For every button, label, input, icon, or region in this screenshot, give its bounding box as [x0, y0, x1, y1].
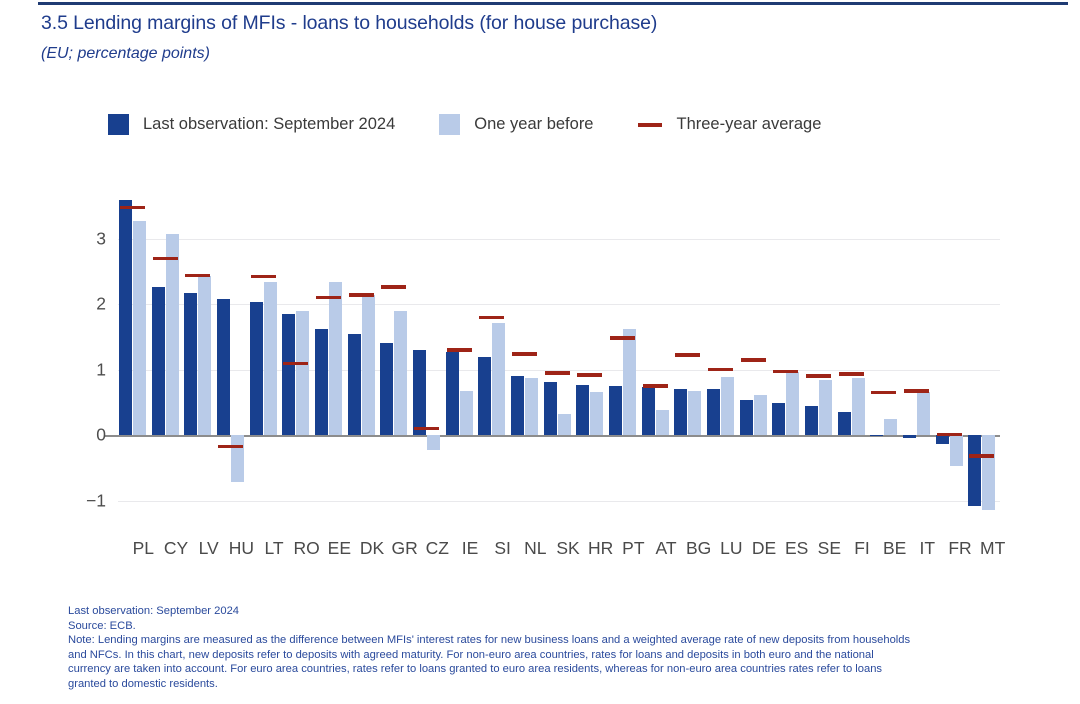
bar-one-year-before — [950, 435, 963, 466]
y-axis-tick-label: 3 — [70, 229, 106, 250]
legend-swatch-icon — [439, 114, 460, 135]
bar-one-year-before — [394, 311, 407, 435]
bar-last-observation — [903, 435, 916, 438]
three-year-average-marker — [806, 374, 831, 378]
bar-group — [575, 190, 608, 530]
bar-last-observation — [707, 389, 720, 435]
x-axis-label: DK — [355, 538, 389, 559]
bar-last-observation — [740, 400, 753, 435]
y-axis-tick-label: 2 — [70, 294, 106, 315]
bar-one-year-before — [198, 276, 211, 436]
three-year-average-marker — [741, 358, 766, 362]
three-year-average-marker — [185, 274, 210, 278]
three-year-average-marker — [349, 293, 374, 297]
bar-one-year-before — [623, 329, 636, 435]
bar-group — [412, 190, 445, 530]
legend-item: Three-year average — [638, 115, 822, 134]
header-rule — [38, 2, 1068, 5]
bar-last-observation — [380, 343, 393, 435]
page-subtitle: (EU; percentage points) — [41, 45, 210, 63]
footnote-line: Last observation: September 2024 — [68, 604, 914, 619]
footnote-line: Note: Lending margins are measured as th… — [68, 633, 914, 691]
x-axis-label: IT — [910, 538, 944, 559]
three-year-average-marker — [773, 370, 798, 374]
three-year-average-marker — [937, 433, 962, 437]
bar-group — [347, 190, 380, 530]
bar-last-observation — [119, 200, 132, 435]
bar-one-year-before — [558, 414, 571, 435]
three-year-average-marker — [120, 206, 145, 210]
x-axis-label: CY — [159, 538, 193, 559]
x-axis-label: AT — [649, 538, 683, 559]
x-axis-label: MT — [976, 538, 1010, 559]
bar-last-observation — [838, 412, 851, 436]
three-year-average-marker — [577, 373, 602, 377]
bar-last-observation — [936, 435, 949, 444]
bar-last-observation — [968, 435, 981, 506]
bar-last-observation — [511, 376, 524, 436]
three-year-average-marker — [316, 296, 341, 300]
y-axis-tick-label: 0 — [70, 425, 106, 446]
bar-group — [281, 190, 314, 530]
three-year-average-marker — [545, 371, 570, 375]
bar-one-year-before — [852, 378, 865, 436]
x-axis-label: BG — [682, 538, 716, 559]
bar-one-year-before — [362, 295, 375, 436]
bar-last-observation — [609, 386, 622, 435]
bar-one-year-before — [296, 311, 309, 435]
three-year-average-marker — [839, 372, 864, 376]
x-axis-label: RO — [290, 538, 324, 559]
bar-group — [641, 190, 674, 530]
bar-last-observation — [576, 385, 589, 435]
bar-group — [216, 190, 249, 530]
x-axis-label: CZ — [420, 538, 454, 559]
three-year-average-marker — [708, 368, 733, 372]
bar-one-year-before — [917, 392, 930, 435]
bar-one-year-before — [264, 282, 277, 435]
bar-last-observation — [446, 352, 459, 435]
x-axis-label: SK — [551, 538, 585, 559]
legend-item: One year before — [439, 114, 593, 135]
bar-one-year-before — [982, 435, 995, 510]
x-axis-label: SI — [486, 538, 520, 559]
bar-group — [151, 190, 184, 530]
three-year-average-marker — [414, 427, 439, 431]
bar-group — [314, 190, 347, 530]
three-year-average-marker — [218, 445, 243, 449]
bar-one-year-before — [133, 221, 146, 435]
bar-last-observation — [674, 389, 687, 435]
bar-group — [869, 190, 902, 530]
bar-group — [379, 190, 412, 530]
x-axis-label: LU — [714, 538, 748, 559]
bar-one-year-before — [231, 435, 244, 482]
bar-last-observation — [642, 387, 655, 435]
bar-group — [771, 190, 804, 530]
bar-one-year-before — [460, 391, 473, 435]
legend-label: Three-year average — [677, 115, 822, 134]
bar-group — [935, 190, 968, 530]
bar-group — [510, 190, 543, 530]
x-axis-label: HU — [224, 538, 258, 559]
x-axis-label: IE — [453, 538, 487, 559]
three-year-average-marker — [871, 391, 896, 395]
bar-group — [477, 190, 510, 530]
three-year-average-marker — [512, 352, 537, 356]
bar-last-observation — [413, 350, 426, 436]
bar-one-year-before — [656, 410, 669, 436]
bar-last-observation — [217, 299, 230, 435]
three-year-average-marker — [479, 316, 504, 320]
bar-group — [118, 190, 151, 530]
x-axis-label: SE — [812, 538, 846, 559]
bar-last-observation — [772, 403, 785, 435]
x-axis-label: EE — [322, 538, 356, 559]
legend-dash-icon — [638, 123, 662, 127]
chart-page: 3.5 Lending margins of MFIs - loans to h… — [0, 0, 1080, 704]
bar-last-observation — [282, 314, 295, 436]
bar-last-observation — [348, 334, 361, 435]
bar-group — [902, 190, 935, 530]
x-axis-label: LV — [192, 538, 226, 559]
x-axis-label: PL — [126, 538, 160, 559]
x-axis-label: LT — [257, 538, 291, 559]
y-axis-tick-label: −1 — [70, 490, 106, 511]
chart-footnote: Last observation: September 2024Source: … — [68, 604, 914, 692]
bar-group — [543, 190, 576, 530]
bar-group — [804, 190, 837, 530]
bar-last-observation — [184, 293, 197, 435]
bar-one-year-before — [688, 391, 701, 435]
bar-last-observation — [544, 382, 557, 435]
x-axis-label: ES — [780, 538, 814, 559]
x-axis-labels: PLCYLVHULTROEEDKGRCZIESINLSKHRPTATBGLUDE… — [118, 538, 1000, 564]
three-year-average-marker — [283, 362, 308, 366]
three-year-average-marker — [675, 353, 700, 357]
bar-last-observation — [315, 329, 328, 435]
three-year-average-marker — [969, 454, 994, 458]
bar-one-year-before — [754, 395, 767, 435]
three-year-average-marker — [904, 389, 929, 393]
bar-last-observation — [250, 302, 263, 435]
bar-one-year-before — [329, 282, 342, 435]
plot-area: −10123 — [118, 190, 1000, 530]
bar-last-observation — [152, 287, 165, 435]
bar-one-year-before — [525, 378, 538, 436]
legend-label: One year before — [474, 115, 593, 134]
three-year-average-marker — [153, 257, 178, 261]
bar-one-year-before — [884, 419, 897, 435]
legend-label: Last observation: September 2024 — [143, 115, 395, 134]
bar-last-observation — [805, 406, 818, 435]
bar-one-year-before — [590, 392, 603, 435]
three-year-average-marker — [251, 275, 276, 279]
bar-one-year-before — [492, 323, 505, 435]
x-axis-label: DE — [747, 538, 781, 559]
bar-one-year-before — [819, 380, 832, 435]
bar-group — [183, 190, 216, 530]
footnote-line: Source: ECB. — [68, 619, 914, 634]
three-year-average-marker — [643, 384, 668, 388]
bar-group — [739, 190, 772, 530]
bar-groups — [118, 190, 1000, 530]
bar-group — [967, 190, 1000, 530]
bar-group — [249, 190, 282, 530]
bar-one-year-before — [166, 234, 179, 435]
bar-group — [445, 190, 478, 530]
x-axis-label: NL — [518, 538, 552, 559]
x-axis-label: FI — [845, 538, 879, 559]
x-axis-label: HR — [584, 538, 618, 559]
bar-group — [837, 190, 870, 530]
three-year-average-marker — [447, 348, 472, 352]
page-title: 3.5 Lending margins of MFIs - loans to h… — [41, 12, 657, 35]
x-axis-label: PT — [616, 538, 650, 559]
chart-legend: Last observation: September 2024One year… — [108, 114, 865, 135]
bar-group — [706, 190, 739, 530]
x-axis-label: FR — [943, 538, 977, 559]
bar-group — [608, 190, 641, 530]
legend-item: Last observation: September 2024 — [108, 114, 395, 135]
bar-one-year-before — [721, 377, 734, 435]
y-axis-tick-label: 1 — [70, 359, 106, 380]
x-axis-label: BE — [878, 538, 912, 559]
bar-last-observation — [870, 435, 883, 436]
three-year-average-marker — [610, 336, 635, 340]
bar-one-year-before — [786, 372, 799, 435]
x-axis-label: GR — [388, 538, 422, 559]
bar-last-observation — [478, 357, 491, 435]
bar-one-year-before — [427, 435, 440, 449]
three-year-average-marker — [381, 285, 406, 289]
bar-group — [673, 190, 706, 530]
legend-swatch-icon — [108, 114, 129, 135]
